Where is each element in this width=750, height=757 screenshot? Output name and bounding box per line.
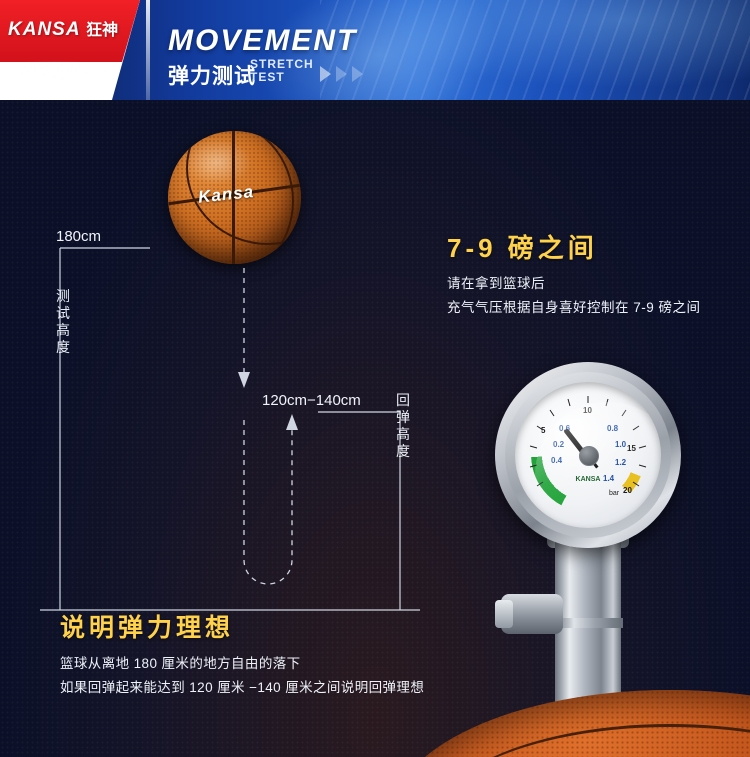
rebound-height-label: 120cm−140cm [262,392,361,409]
gauge-number-0-4: 0.4 [551,456,562,465]
gauge-bezel-outer: 10 5 15 20 0.2 0.4 0.6 0.8 1.0 1.2 1.4 K… [495,362,681,548]
header-subtitle-line2: TEST [250,71,314,84]
header-subtitle-en: STRETCH TEST [250,58,314,84]
arrow-right-icon-2 [336,66,347,82]
gauge-stem [555,538,621,718]
header-title-cn: 弹力测试 [168,60,256,90]
header-title-en: MOVEMENT [168,24,357,58]
conclusion-line-1: 篮球从离地 180 厘米的地方自由的落下 [60,652,301,672]
bottom-basketball-image [390,690,750,757]
arrow-right-icon-1 [320,66,331,82]
gauge-number-5: 5 [541,426,545,435]
basketball-image: Kansa [168,131,301,264]
gauge-number-10: 10 [583,406,592,415]
brand-logo-badge: KANSA 狂神 [0,0,140,100]
gauge-release-knob-cap[interactable] [495,600,513,628]
gauge-number-0-8: 0.8 [607,424,618,433]
gauge-brand-mini-logo: KANSA [573,476,603,492]
logo-flare-decoration [18,60,122,82]
gauge-number-0-2: 0.2 [553,440,564,449]
header-divider [146,0,150,100]
gauge-stem-band [553,618,623,628]
gauge-number-1-2: 1.2 [615,458,626,467]
logo-text-en: KANSA [8,19,80,40]
arrow-right-icon-3 [352,66,363,82]
logo-text-cn: 狂神 [86,22,118,39]
gauge-number-20: 20 [623,486,632,495]
page-header: KANSA 狂神 MOVEMENT 弹力测试 STRETCH TEST [0,0,750,100]
logo-text: KANSA 狂神 [8,16,132,41]
gauge-dial-face: 10 5 15 20 0.2 0.4 0.6 0.8 1.0 1.2 1.4 K… [515,382,661,528]
pressure-range-title: 7-9 磅之间 [447,228,598,265]
gauge-number-1-0: 1.0 [615,440,626,449]
gauge-unit-label: bar [609,490,619,497]
gauge-number-15: 15 [627,444,636,453]
header-arrows-icon [320,66,363,82]
conclusion-line-2: 如果回弹起来能达到 120 厘米 −140 厘米之间说明回弹理想 [60,676,424,696]
page-root: KANSA 狂神 MOVEMENT 弹力测试 STRETCH TEST Kans… [0,0,750,757]
rebound-height-vertical-label: 回弹高度 [396,392,414,460]
conclusion-title: 说明弹力理想 [60,608,234,644]
test-height-vertical-label: 测试高度 [56,288,74,356]
drop-height-label: 180cm [56,228,101,245]
gauge-needle-hub [579,446,599,466]
gauge-number-1-4: 1.4 [603,474,614,483]
pressure-desc-line-1: 请在拿到篮球后 [447,272,545,292]
pressure-desc-line-2: 充气气压根据自身喜好控制在 7-9 磅之间 [447,296,701,316]
